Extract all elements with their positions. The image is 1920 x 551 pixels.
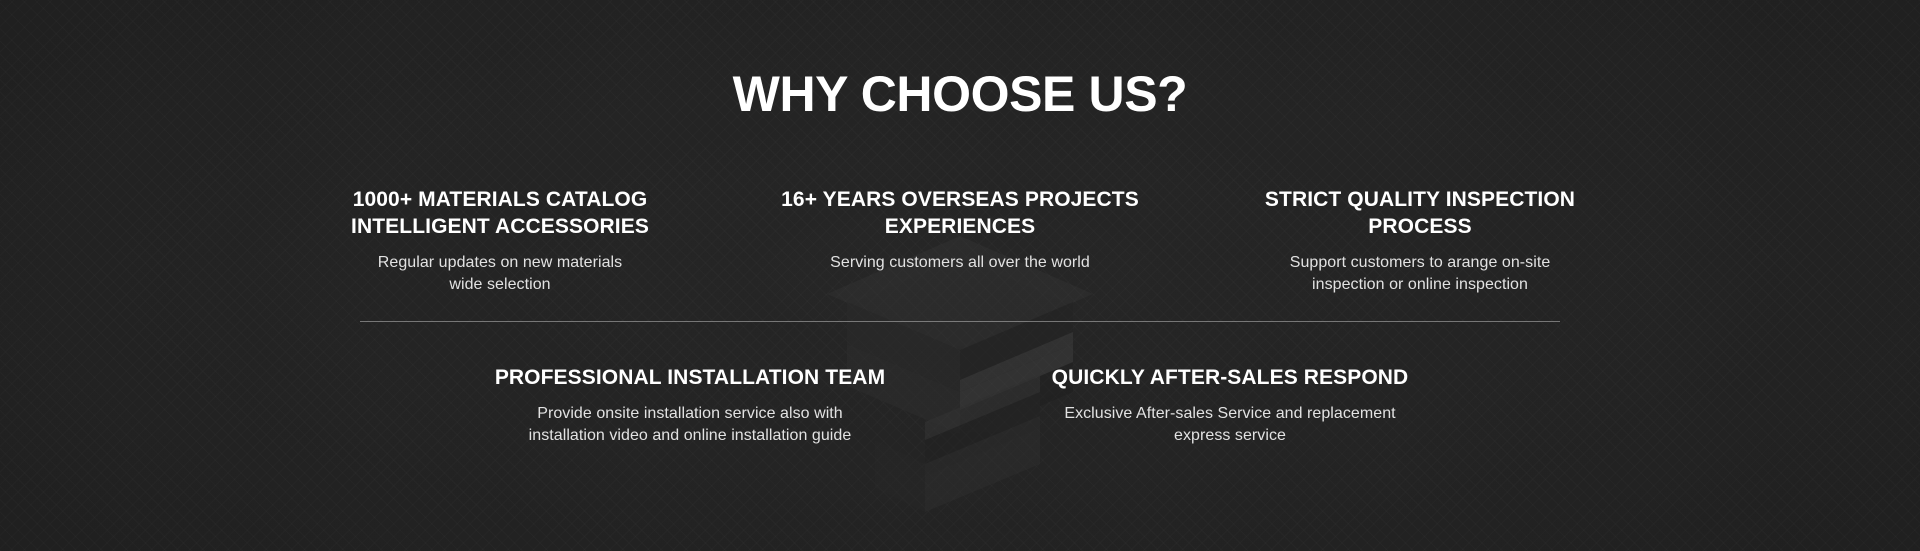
feature-overseas-projects: 16+ YEARS OVERSEAS PROJECTS EXPERIENCES … xyxy=(770,186,1150,274)
feature-title-line-1: 16+ YEARS OVERSEAS PROJECTS xyxy=(781,188,1139,211)
feature-title: QUICKLY AFTER-SALES RESPOND xyxy=(1020,364,1440,391)
feature-description: Support customers to arange on-site insp… xyxy=(1230,252,1610,296)
feature-title-line-2: INTELLIGENT ACCESSORIES xyxy=(351,215,649,238)
feature-title-line-1: QUICKLY AFTER-SALES RESPOND xyxy=(1052,366,1409,389)
page-title: WHY CHOOSE US? xyxy=(0,66,1920,122)
feature-title-line-2: TEAM xyxy=(825,366,885,389)
feature-title-line-2: EXPERIENCES xyxy=(885,215,1035,238)
feature-title-line-1: 1000+ MATERIALS CATALOG xyxy=(353,188,648,211)
feature-desc-line-2: inspection or online inspection xyxy=(1230,274,1610,296)
features-top-row: 1000+ MATERIALS CATALOG INTELLIGENT ACCE… xyxy=(310,186,1610,296)
why-choose-us-section: WHY CHOOSE US? 1000+ MATERIALS CATALOG I… xyxy=(0,0,1920,551)
feature-desc-line-1: Exclusive After-sales Service and replac… xyxy=(1020,403,1440,425)
feature-after-sales-respond: QUICKLY AFTER-SALES RESPOND Exclusive Af… xyxy=(1020,364,1440,447)
feature-title: 16+ YEARS OVERSEAS PROJECTS EXPERIENCES xyxy=(770,186,1150,240)
feature-title: 1000+ MATERIALS CATALOG INTELLIGENT ACCE… xyxy=(310,186,690,240)
section-divider xyxy=(360,321,1560,322)
feature-title: STRICT QUALITY INSPECTION PROCESS xyxy=(1230,186,1610,240)
feature-materials-catalog: 1000+ MATERIALS CATALOG INTELLIGENT ACCE… xyxy=(310,186,690,296)
feature-quality-inspection: STRICT QUALITY INSPECTION PROCESS Suppor… xyxy=(1230,186,1610,296)
feature-title-line-1: STRICT QUALITY INSPECTION xyxy=(1265,188,1575,211)
feature-desc-line-2: installation video and online installati… xyxy=(480,425,900,447)
feature-desc-line-2: express service xyxy=(1020,425,1440,447)
feature-description: Serving customers all over the world xyxy=(770,252,1150,274)
feature-desc-line-1: Support customers to arange on-site xyxy=(1230,252,1610,274)
feature-title: PROFESSIONAL INSTALLATION TEAM xyxy=(480,364,900,391)
feature-description: Regular updates on new materials wide se… xyxy=(310,252,690,296)
feature-title-line-1: PROFESSIONAL INSTALLATION xyxy=(495,366,820,389)
feature-desc-line-1: Provide onsite installation service also… xyxy=(480,403,900,425)
feature-desc-line-2: wide selection xyxy=(310,274,690,296)
features-bottom-row: PROFESSIONAL INSTALLATION TEAM Provide o… xyxy=(480,364,1440,447)
feature-title-line-2: PROCESS xyxy=(1368,215,1471,238)
feature-desc-line-1: Serving customers all over the world xyxy=(770,252,1150,274)
feature-description: Exclusive After-sales Service and replac… xyxy=(1020,403,1440,447)
feature-installation-team: PROFESSIONAL INSTALLATION TEAM Provide o… xyxy=(480,364,900,447)
feature-description: Provide onsite installation service also… xyxy=(480,403,900,447)
section-content: WHY CHOOSE US? 1000+ MATERIALS CATALOG I… xyxy=(0,0,1920,551)
feature-desc-line-1: Regular updates on new materials xyxy=(310,252,690,274)
